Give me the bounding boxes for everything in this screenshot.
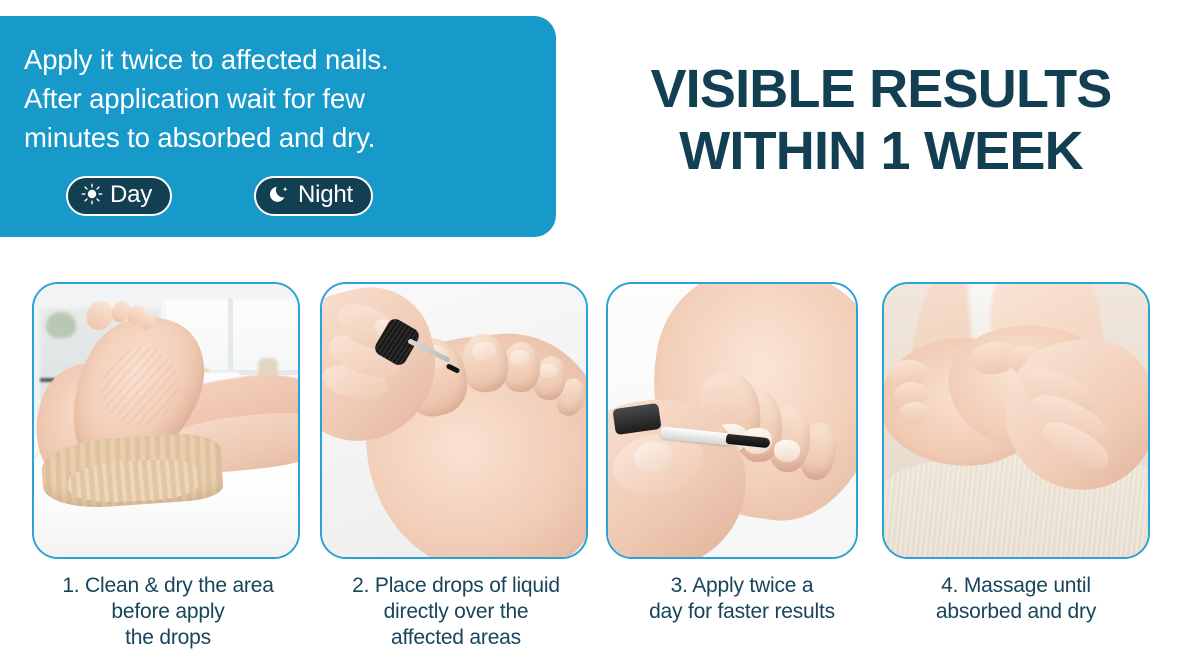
step-3-photo-frame — [606, 282, 858, 559]
moon-icon — [269, 183, 291, 210]
top-section: Apply it twice to affected nails. After … — [0, 0, 1200, 262]
day-badge-label: Day — [110, 183, 152, 207]
step-4-photo-frame — [882, 282, 1150, 559]
step-2-caption: 2. Place drops of liquid directly over t… — [311, 573, 601, 651]
step-card-1: 1. Clean & dry the area before apply the… — [32, 282, 304, 667]
night-badge-label: Night — [298, 183, 353, 207]
sun-icon — [81, 183, 103, 210]
step-card-2: 2. Place drops of liquid directly over t… — [320, 282, 592, 667]
dropper-on-toenail-photo — [322, 284, 586, 557]
night-badge[interactable]: Night — [254, 176, 373, 216]
step-4-caption: 4. Massage until absorbed and dry — [882, 573, 1150, 625]
day-badge[interactable]: Day — [66, 176, 172, 216]
feet-on-towel-photo — [34, 284, 298, 557]
step-card-3: 3. Apply twice a day for faster results — [606, 282, 878, 667]
page-title: VISIBLE RESULTS WITHIN 1 WEEK — [570, 58, 1192, 182]
step-card-4: 4. Massage until absorbed and dry — [882, 282, 1154, 667]
brush-on-toenail-photo — [608, 284, 856, 557]
steps-row: 1. Clean & dry the area before apply the… — [0, 282, 1200, 667]
step-1-caption: 1. Clean & dry the area before apply the… — [18, 573, 318, 651]
foot-massage-photo — [884, 284, 1148, 557]
step-2-photo-frame — [320, 282, 588, 559]
instruction-text: Apply it twice to affected nails. After … — [24, 40, 534, 157]
time-of-day-badge-row: Day Night — [24, 176, 544, 222]
step-1-photo-frame — [32, 282, 300, 559]
step-3-caption: 3. Apply twice a day for faster results — [604, 573, 880, 625]
